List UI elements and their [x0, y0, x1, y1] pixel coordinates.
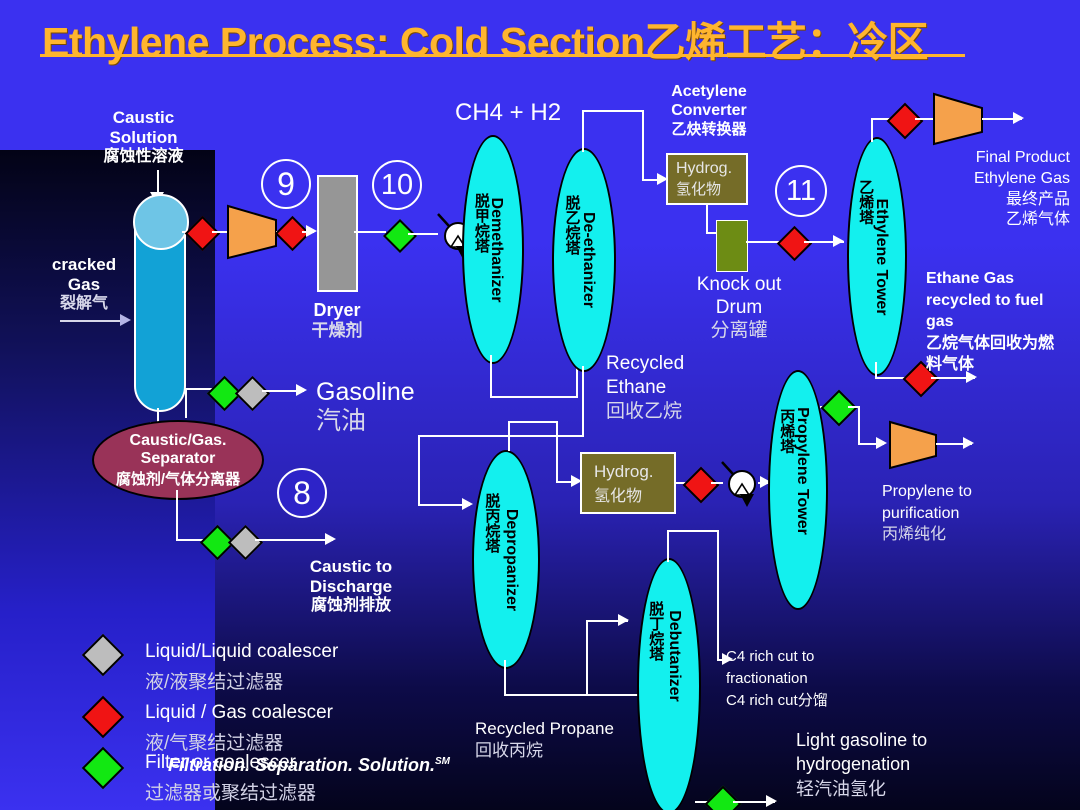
drum-out-line: [746, 241, 780, 243]
page-title-en: Ethylene Process: Cold Section: [42, 19, 644, 65]
legend-liquid-gas-en: Liquid / Gas coalescer: [145, 702, 333, 724]
deeth-overhead-h: [582, 110, 644, 112]
propylene-label: Propylene to purification 丙烯纯化: [882, 481, 1042, 546]
gasoline-label-cn: 汽油: [316, 407, 366, 437]
tower-depropanizer: Depropanizer 脱丙烷塔: [472, 450, 540, 669]
caustic-tower-cap: [133, 194, 189, 250]
cracked-gas-label: cracked Gas 裂解气: [28, 255, 140, 314]
caustic-discharge-label: Caustic to Discharge 腐蚀剂排放: [281, 557, 421, 616]
discharge-arrow: [325, 533, 336, 545]
ethane-recycle-v: [875, 362, 877, 378]
dryer-label: Dryer 干燥剂: [292, 300, 382, 341]
ethylene-overhead-v: [871, 118, 873, 142]
compressor-3-icon: [888, 420, 938, 470]
tower-propylene: Propylene Tower 丙烯塔: [768, 370, 828, 610]
brand-tagline: Filtration. Separation. Solution.SM: [168, 755, 450, 776]
debut-overhead-h: [667, 530, 719, 532]
deeth-overhead-v: [582, 110, 584, 152]
tower-ethylene-label-cn: 乙烯塔: [855, 180, 876, 225]
light-gas-arrow: [766, 795, 777, 807]
step-number-10-value: 10: [381, 169, 413, 202]
knockout-drum: [716, 220, 748, 272]
tower-depropanizer-label-en: Depropanizer: [502, 508, 520, 610]
compressor-2-icon: [932, 92, 984, 146]
step-number-8-value: 8: [293, 475, 311, 512]
brand-tagline-text: Filtration. Separation. Solution.: [168, 755, 435, 775]
step-number-9-value: 9: [277, 166, 295, 203]
propylene-product-arrow: [963, 437, 974, 449]
tower-propylene-label-cn: 丙烯塔: [776, 409, 797, 454]
tower-demethanizer: Demethanizer 脱甲烷塔: [462, 135, 524, 364]
tower-debutanizer-label-en: Debutanizer: [665, 610, 683, 702]
legend-liquid-liquid-en: Liquid/Liquid coalescer: [145, 641, 338, 663]
deeth-overhead-v2: [642, 110, 644, 180]
step-number-8: 8: [277, 468, 327, 518]
step-number-11-value: 11: [786, 175, 816, 208]
cracked-gas-line: [60, 320, 122, 322]
tower-depropanizer-label-cn: 脱丙烷塔: [481, 493, 502, 553]
to-depropanizer-arrow: [462, 498, 473, 510]
legend-liquid-liquid-cn: 液/液聚结过滤器: [145, 667, 283, 694]
tower-de-ethanizer: De-ethanizer 脱乙烷塔: [552, 148, 616, 372]
deeth-bottoms-h: [418, 435, 584, 437]
drum-to-ethylene-arrow: [833, 235, 844, 247]
hydrog-to-drum-v: [706, 205, 708, 233]
page-title: Ethylene Process: Cold Section乙烯工艺：冷区: [42, 8, 928, 68]
demeth-bottoms-v: [490, 355, 492, 397]
ch4-h2-label: CH4 + H2: [455, 99, 561, 127]
deprop-bottoms-h: [504, 694, 640, 696]
compressor-1-icon: [226, 204, 278, 260]
gasoline-arrow: [296, 384, 307, 396]
legend-liquid-gas-cn: 液/气聚结过滤器: [145, 728, 283, 755]
step-number-10: 10: [372, 160, 422, 210]
page-title-cn: 乙烯工艺：冷区: [644, 19, 928, 65]
tower-demethanizer-label-cn: 脱甲烷塔: [471, 193, 492, 253]
caustic-gas-separator: Caustic/Gas. Separator 腐蚀剂/气体分离器: [92, 420, 264, 500]
deprop-to-debut-riser: [586, 620, 588, 696]
tower-debutanizer-label-cn: 脱丁烷塔: [645, 601, 666, 661]
deeth-bottoms-down: [418, 435, 420, 505]
ethane-recycle-label: Ethane Gas recycled to fuel gas 乙烷气体回收为燃…: [926, 268, 1076, 376]
final-product-label: Final Product Ethylene Gas 最终产品 乙烯气体: [930, 148, 1070, 231]
demeth-bottoms-h: [490, 396, 578, 398]
dryer-unit: [317, 175, 358, 292]
acetylene-converter-label: Acetylene Converter 乙炔转换器: [650, 83, 768, 138]
valve-pump-icon-2: [716, 460, 764, 512]
debut-overhead-v2: [717, 530, 719, 660]
step-number-9: 9: [261, 159, 311, 209]
slide-canvas: Ethylene Process: Cold Section乙烯工艺：冷区 Ca…: [0, 0, 1080, 810]
deeth-bottoms-v: [582, 366, 584, 436]
discharge-downcomer: [176, 490, 178, 540]
propylene-to-comp-arrow: [876, 437, 887, 449]
tower-debutanizer: Debutanizer 脱丁烷塔: [637, 558, 701, 810]
to-dryer-arrow: [306, 225, 317, 237]
title-underline: [40, 54, 965, 57]
brand-tagline-mark: SM: [435, 756, 450, 767]
gasoline-label-en: Gasoline: [316, 378, 415, 408]
deprop-to-debut-arrow: [618, 614, 629, 626]
final-product-arrow: [1013, 112, 1024, 124]
discharge-line-2: [255, 539, 333, 541]
hydrog-box-bottom: Hydrog. 氢化物: [580, 452, 676, 514]
dryer-out-line: [354, 231, 386, 233]
tower-ethylene: Ethylene Tower 乙烯塔: [847, 137, 907, 376]
cracked-gas-arrow: [120, 314, 131, 326]
gasoline-riser: [185, 388, 187, 418]
recycled-propane-label: Recycled Propane 回收丙烷: [475, 718, 614, 762]
deprop-bottoms-v: [504, 660, 506, 696]
recycled-ethane-label: Recycled Ethane 回收乙烷: [606, 352, 684, 423]
deprop-overhead-v2: [556, 421, 558, 481]
hydrog-box-top: Hydrog. 氢化物: [666, 153, 748, 205]
caustic-solution-label: Caustic Solution 腐蚀性溶液: [86, 108, 201, 167]
step-number-11: 11: [775, 165, 827, 217]
knockout-drum-label: Knock out Drum 分离罐: [686, 274, 792, 342]
deprop-overhead-v: [508, 421, 510, 451]
deprop-overhead-h: [508, 421, 558, 423]
tower-de-ethanizer-label-cn: 脱乙烷塔: [562, 195, 583, 255]
c4-rich-cut-label: C4 rich cut to fractionation C4 rich cut…: [726, 646, 926, 711]
propylene-out-v: [858, 406, 860, 444]
debut-overhead-v: [667, 530, 669, 562]
legend-filter-coalescer-cn: 过滤器或聚结过滤器: [145, 778, 316, 805]
light-gasoline-label: Light gasoline to hydrogenation 轻汽油氢化: [796, 728, 996, 801]
